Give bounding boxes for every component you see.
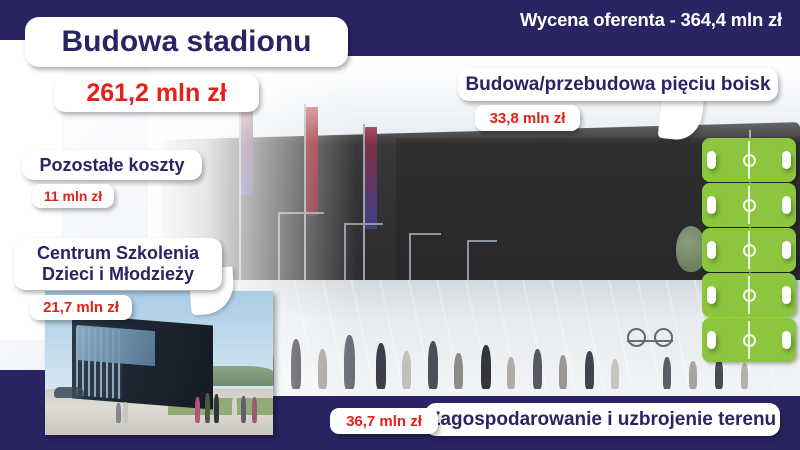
page-title: Budowa stadionu [25,17,348,67]
inset-person [214,394,219,423]
lamp-arm [467,240,496,242]
pitch-column [702,138,796,363]
title-amount: 261,2 mln zł [54,75,259,112]
callout-label-zagospodarowanie: Zagospodarowanie i uzbrojenie terenu [425,403,780,436]
inset-person [205,393,210,423]
centrum-label-line-1: Centrum Szkolenia [37,243,199,264]
football-pitch-icon [702,318,796,362]
inset-building-window [77,325,155,366]
inset-person [232,395,237,423]
inset-person [195,397,200,423]
bicycle [627,322,673,342]
valuation-label: Wycena oferenta - 364,4 mln zł [520,9,782,31]
callout-label-pozostale: Pozostałe koszty [22,150,202,180]
football-pitch-icon [702,138,796,182]
inset-car [54,387,84,398]
callout-amount-boiska: 33,8 mln zł [475,105,580,131]
callout-amount-zagospodarowanie: 36,7 mln zł [330,408,438,434]
football-pitch-icon [702,183,796,227]
callout-amount-pozostale: 11 mln zł [32,184,114,208]
football-pitch-icon [702,273,796,317]
callout-label-centrum: Centrum Szkolenia Dzieci i Młodzieży [14,238,222,290]
inset-person [241,396,246,423]
football-pitch-icon [702,228,796,272]
lamp-arm [409,233,442,235]
infographic-canvas: Wycena oferenta - 364,4 mln zł Budowa st… [0,0,800,450]
inset-person [123,402,128,423]
inset-person [116,403,121,423]
callout-label-boiska: Budowa/przebudowa pięciu boisk [458,68,778,101]
centrum-label-line-2: Dzieci i Młodzieży [42,264,194,285]
inset-person [252,397,257,423]
callout-amount-centrum: 21,7 mln zł [30,295,132,320]
